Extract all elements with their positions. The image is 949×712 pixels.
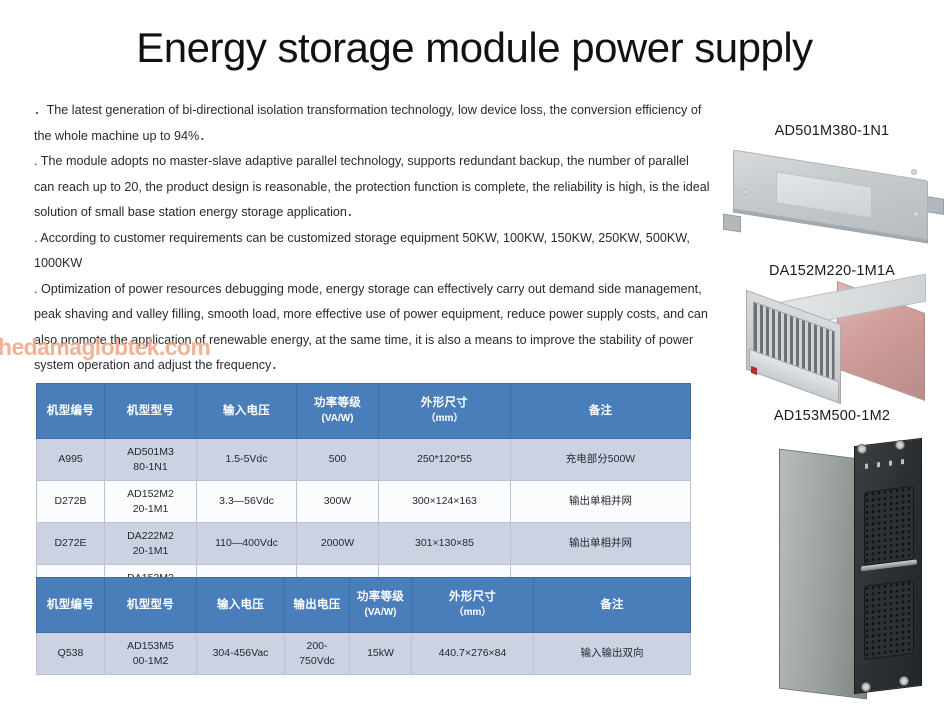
- th-dimensions: 外形尺寸（mm）: [379, 384, 511, 439]
- description-paragraph-1: ．The latest generation of bi-directional…: [34, 98, 712, 149]
- th-model-code-label: 机型编号: [47, 405, 94, 417]
- th-model-number: 机型型号: [105, 578, 197, 633]
- th-input-voltage: 输入电压: [197, 578, 285, 633]
- cell-model-code: D272B: [37, 481, 105, 523]
- th-dimensions-label: 外形尺寸: [421, 397, 468, 409]
- product-1-image: [715, 145, 949, 257]
- th-output-voltage-label: 输出电压: [293, 599, 340, 611]
- cell-dimensions: 301×130×85: [379, 523, 511, 565]
- fan-grille-icon: [864, 580, 914, 660]
- cell-output-voltage-line1: 200-: [287, 639, 347, 654]
- cell-model-code: A995: [37, 439, 105, 481]
- th-model-number: 机型型号: [105, 384, 197, 439]
- th-input-voltage: 输入电压: [197, 384, 297, 439]
- th-model-code: 机型编号: [37, 384, 105, 439]
- th-power-level-label: 功率等级: [357, 591, 404, 603]
- cell-power: 2000W: [297, 523, 379, 565]
- table-row: Q538 AD153M500-1M2 304-456Vac 200-750Vdc…: [37, 633, 691, 675]
- th-dimensions: 外形尺寸（mm）: [412, 578, 534, 633]
- cell-power: 15kW: [350, 633, 412, 675]
- cell-model-number: DA222M220-1M1: [105, 523, 197, 565]
- slide-page: Energy storage module power supply ．The …: [0, 0, 949, 708]
- th-dimensions-unit: （mm）: [454, 607, 492, 618]
- th-power-level: 功率等级(VA/W): [350, 578, 412, 633]
- th-power-level: 功率等级(VA/W): [297, 384, 379, 439]
- th-power-level-unit: (VA/W): [321, 413, 353, 424]
- status-led-icon: [751, 366, 757, 375]
- cell-dimensions: 250*120*55: [379, 439, 511, 481]
- th-dimensions-unit: （mm）: [426, 413, 464, 424]
- chassis-lid-panel: [776, 171, 872, 218]
- table1-header-row: 机型编号 机型型号 输入电压 功率等级(VA/W) 外形尺寸（mm） 备注: [37, 384, 691, 439]
- screw-icon: [895, 440, 905, 450]
- cell-power: 300W: [297, 481, 379, 523]
- cell-model-number-line1: AD152M2: [107, 487, 194, 502]
- product-1: AD501M380-1N1: [715, 123, 949, 257]
- cell-model-number: AD501M380-1N1: [105, 439, 197, 481]
- cell-dimensions: 300×124×163: [379, 481, 511, 523]
- cell-remark: 充电部分500W: [511, 439, 691, 481]
- indicator-leds-icon: [865, 458, 913, 469]
- cell-model-number: AD152M220-1M1: [105, 481, 197, 523]
- description-paragraph-3: . According to customer requirements can…: [34, 226, 712, 277]
- cell-remark: 输入输出双向: [534, 633, 691, 675]
- fan-grille-icon: [864, 486, 914, 566]
- cell-input-voltage: 110—400Vdc: [197, 523, 297, 565]
- cell-model-code: Q538: [37, 633, 105, 675]
- product-1-label: AD501M380-1N1: [715, 123, 949, 139]
- cell-model-number-line2: 80-1N1: [107, 460, 194, 475]
- product-3-label: AD153M500-1M2: [715, 408, 949, 424]
- th-model-number-label: 机型型号: [127, 405, 174, 417]
- description-text: ．The latest generation of bi-directional…: [34, 98, 712, 379]
- th-input-voltage-label: 输入电压: [223, 405, 270, 417]
- product-3: AD153M500-1M2: [715, 408, 949, 712]
- th-remark: 备注: [534, 578, 691, 633]
- screw-icon: [857, 444, 867, 454]
- th-model-code-label: 机型编号: [47, 599, 94, 611]
- product-2: DA152M220-1M1A: [715, 263, 949, 397]
- cell-output-voltage: 200-750Vdc: [285, 633, 350, 675]
- cell-remark: 输出单相并网: [511, 523, 691, 565]
- cell-input-voltage: 3.3—56Vdc: [197, 481, 297, 523]
- th-model-code: 机型编号: [37, 578, 105, 633]
- chassis-front-panel: [854, 438, 922, 694]
- cell-model-number-line2: 00-1M2: [107, 654, 194, 669]
- screw-icon: [913, 211, 919, 217]
- table-row: D272E DA222M220-1M1 110—400Vdc 2000W 301…: [37, 523, 691, 565]
- cell-model-number-line2: 20-1M1: [107, 502, 194, 517]
- screw-icon: [861, 682, 871, 692]
- spec-table-ac-modules: 机型编号 机型型号 输入电压 输出电压 功率等级(VA/W) 外形尺寸（mm） …: [36, 577, 691, 675]
- product-2-image: [715, 285, 949, 397]
- th-power-level-unit: (VA/W): [364, 607, 396, 618]
- cell-model-number: AD153M500-1M2: [105, 633, 197, 675]
- cell-dimensions: 440.7×276×84: [412, 633, 534, 675]
- cell-output-voltage-line2: 750Vdc: [287, 654, 347, 669]
- cell-model-number-line1: DA222M2: [107, 529, 194, 544]
- th-model-number-label: 机型型号: [127, 599, 174, 611]
- th-output-voltage: 输出电压: [285, 578, 350, 633]
- mounting-ear-left-icon: [723, 214, 741, 233]
- spec-table-dc-modules: 机型编号 机型型号 输入电压 功率等级(VA/W) 外形尺寸（mm） 备注 A9…: [36, 383, 691, 607]
- th-dimensions-label: 外形尺寸: [449, 591, 496, 603]
- screw-icon: [743, 189, 749, 195]
- cell-model-number-line1: AD501M3: [107, 445, 194, 460]
- screw-icon: [899, 676, 909, 686]
- cell-model-number-line2: 20-1M1: [107, 544, 194, 559]
- cell-power: 500: [297, 439, 379, 481]
- cell-model-number-line1: AD153M5: [107, 639, 194, 654]
- cell-input-voltage: 304-456Vac: [197, 633, 285, 675]
- table-row: A995 AD501M380-1N1 1.5-5Vdc 500 250*120*…: [37, 439, 691, 481]
- th-input-voltage-label: 输入电压: [217, 599, 264, 611]
- description-paragraph-2: . The module adopts no master-slave adap…: [34, 149, 712, 226]
- screw-icon: [911, 169, 917, 175]
- table-row: D272B AD152M220-1M1 3.3—56Vdc 300W 300×1…: [37, 481, 691, 523]
- product-3-image: [715, 430, 949, 712]
- th-power-level-label: 功率等级: [314, 397, 361, 409]
- description-paragraph-4: . Optimization of power resources debugg…: [34, 277, 712, 379]
- cell-remark: 输出单相并网: [511, 481, 691, 523]
- th-remark-label: 备注: [600, 599, 624, 611]
- cell-input-voltage: 1.5-5Vdc: [197, 439, 297, 481]
- th-remark: 备注: [511, 384, 691, 439]
- cell-model-code: D272E: [37, 523, 105, 565]
- th-remark-label: 备注: [589, 405, 613, 417]
- page-title: Energy storage module power supply: [0, 24, 949, 72]
- table2-header-row: 机型编号 机型型号 输入电压 输出电压 功率等级(VA/W) 外形尺寸（mm） …: [37, 578, 691, 633]
